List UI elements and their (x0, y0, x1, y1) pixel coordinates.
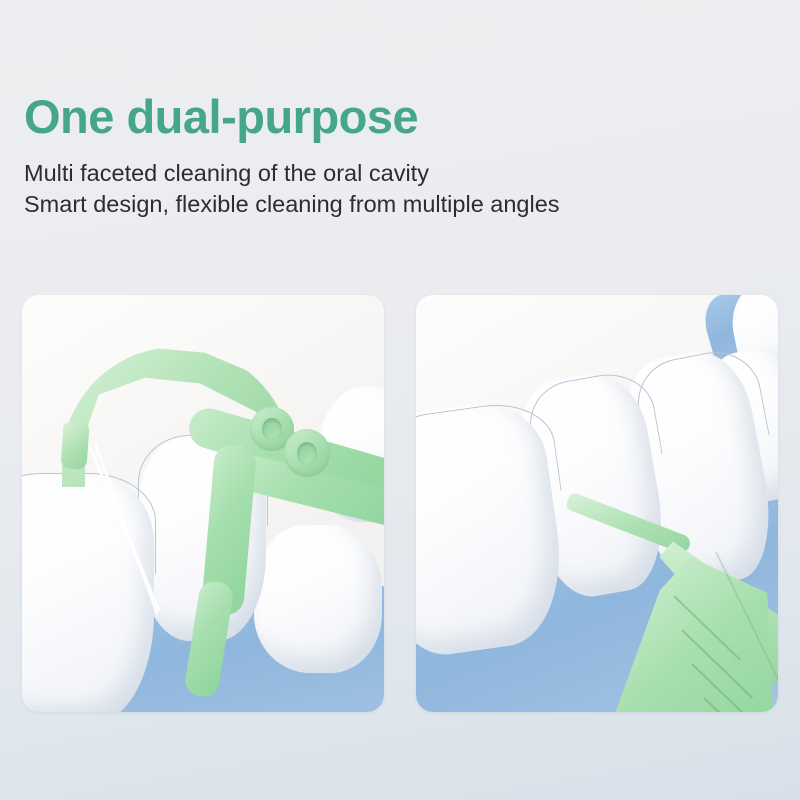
header-text-block: One dual-purpose Multi faceted cleaning … (24, 88, 764, 220)
page-title: One dual-purpose (24, 88, 764, 146)
tooth-right-molar (254, 525, 382, 673)
subtitle-line-1: Multi faceted cleaning of the oral cavit… (24, 158, 764, 189)
image-panel-row (22, 295, 778, 712)
subtitle-line-2: Smart design, flexible cleaning from mul… (24, 189, 764, 220)
subtitle-group: Multi faceted cleaning of the oral cavit… (24, 158, 764, 220)
handle-boss-upper-hole (262, 418, 282, 440)
panel-flossing (22, 295, 384, 712)
handle-boss-lower-hole (297, 442, 317, 465)
product-feature-poster: One dual-purpose Multi faceted cleaning … (0, 0, 800, 800)
panel-interdental-pick (416, 295, 778, 712)
floss-arm-left-tip (60, 422, 89, 470)
